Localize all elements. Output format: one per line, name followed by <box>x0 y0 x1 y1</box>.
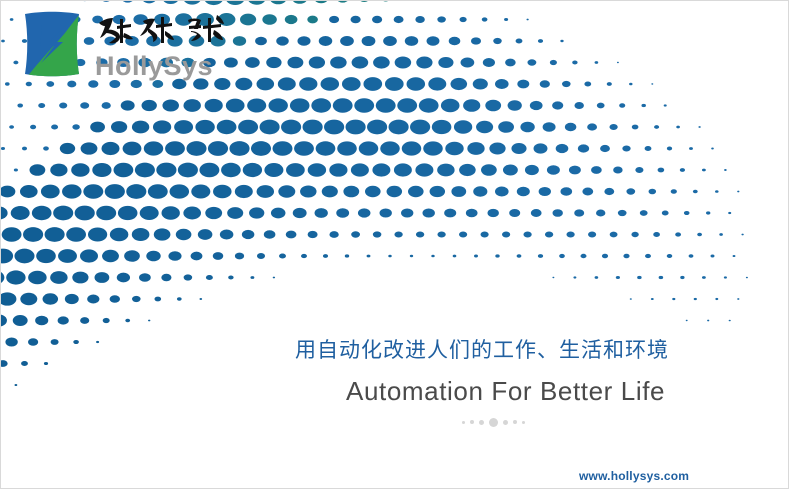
halftone-dot <box>5 337 17 346</box>
halftone-dot <box>50 164 67 177</box>
halftone-dot <box>329 231 338 238</box>
halftone-dot <box>321 77 340 91</box>
halftone-dot <box>30 125 36 129</box>
halftone-dot <box>32 206 52 220</box>
halftone-dot <box>154 297 161 302</box>
halftone-dot <box>286 163 305 177</box>
dot-separator <box>456 415 531 429</box>
halftone-dot <box>495 254 499 257</box>
halftone-dot <box>733 255 736 257</box>
halftone-dot <box>110 228 129 242</box>
halftone-dot <box>724 276 727 278</box>
halftone-dot <box>728 212 731 214</box>
halftone-dot <box>315 208 328 218</box>
halftone-dot <box>354 98 374 113</box>
halftone-dot <box>376 98 396 113</box>
halftone-dot <box>205 207 222 219</box>
halftone-dot <box>602 254 608 259</box>
halftone-dot <box>746 277 748 279</box>
halftone-dot <box>488 209 499 217</box>
halftone-dot <box>505 59 516 67</box>
separator-dot <box>479 420 484 425</box>
halftone-dot <box>90 122 105 133</box>
halftone-dot <box>380 141 400 155</box>
halftone-dot <box>273 141 293 156</box>
halftone-dot <box>266 57 281 68</box>
halftone-dot <box>651 298 654 300</box>
halftone-dot <box>73 340 79 344</box>
halftone-dot <box>481 232 489 238</box>
halftone-dot <box>329 16 339 23</box>
halftone-dot <box>221 163 241 177</box>
separator-dot <box>470 420 474 424</box>
halftone-dot <box>626 188 635 194</box>
halftone-dot <box>124 250 140 262</box>
halftone-dot <box>329 163 347 176</box>
halftone-dot <box>449 37 461 45</box>
halftone-dot <box>286 231 297 239</box>
halftone-dot <box>481 164 497 176</box>
halftone-dot <box>83 184 103 199</box>
halftone-dot <box>385 77 404 91</box>
halftone-dot <box>132 296 141 302</box>
halftone-dot <box>654 125 659 129</box>
halftone-dot <box>330 56 347 68</box>
halftone-dot <box>290 98 310 112</box>
halftone-dot <box>538 39 543 43</box>
halftone-dot <box>422 208 434 217</box>
halftone-dot <box>102 250 119 262</box>
tagline-chinese: 用自动化改进人们的工作、生活和环境 <box>295 334 669 364</box>
halftone-dot <box>653 232 660 237</box>
halftone-dot <box>337 141 357 155</box>
halftone-dot <box>581 254 587 258</box>
halftone-dot <box>373 231 381 237</box>
halftone-dot <box>72 272 88 284</box>
halftone-dot <box>351 16 361 23</box>
halftone-dot <box>565 123 576 131</box>
halftone-dot <box>162 1 178 4</box>
halftone-dot <box>278 185 295 197</box>
halftone-dot <box>154 228 171 240</box>
halftone-dot <box>311 98 331 112</box>
halftone-dot <box>651 83 653 84</box>
halftone-dot <box>243 163 262 177</box>
halftone-dot <box>13 315 28 326</box>
halftone-dot <box>552 101 563 109</box>
halftone-dot <box>22 147 27 151</box>
halftone-dot <box>719 233 723 236</box>
halftone-dot <box>238 120 258 135</box>
halftone-dot <box>72 124 79 129</box>
halftone-dot <box>623 254 629 259</box>
halftone-dot <box>257 185 274 198</box>
halftone-dot <box>285 15 298 24</box>
brand-logo[interactable]: HollySys <box>21 9 251 87</box>
halftone-dot <box>387 186 403 197</box>
halftone-dot <box>96 341 99 343</box>
halftone-dot <box>227 207 243 219</box>
halftone-dot <box>659 276 664 279</box>
halftone-dot <box>213 185 232 199</box>
halftone-dot <box>629 83 632 86</box>
halftone-dot <box>292 1 308 4</box>
halftone-dot <box>1 249 13 264</box>
halftone-dot <box>617 62 619 63</box>
halftone-dot <box>178 163 198 178</box>
halftone-dot <box>495 79 509 89</box>
halftone-dot <box>517 80 529 89</box>
halftone-dot <box>473 78 488 89</box>
halftone-dot <box>346 120 366 135</box>
halftone-dot <box>293 208 307 218</box>
halftone-dot <box>438 57 453 68</box>
halftone-dot <box>140 206 159 220</box>
halftone-dot <box>493 38 501 44</box>
halftone-dot <box>161 274 171 281</box>
halftone-dot <box>148 184 168 199</box>
halftone-dot <box>574 209 584 216</box>
halftone-dot <box>176 229 192 240</box>
halftone-dot <box>324 120 344 135</box>
halftone-dot <box>308 163 326 177</box>
halftone-dot <box>165 141 185 156</box>
hollysys-logo-mark-icon <box>21 11 83 77</box>
halftone-dot <box>65 294 79 304</box>
halftone-dot <box>28 271 47 285</box>
halftone-dot <box>618 210 627 216</box>
halftone-dot <box>582 188 593 196</box>
halftone-dot <box>684 211 690 215</box>
halftone-dot <box>664 104 667 106</box>
halftone-dot <box>630 298 632 300</box>
halftone-dot <box>461 57 475 67</box>
halftone-dot <box>367 120 387 135</box>
halftone-dot <box>257 253 265 259</box>
halftone-dot <box>667 147 672 151</box>
halftone-dot <box>322 186 338 198</box>
halftone-dot <box>658 168 665 173</box>
halftone-dot <box>431 255 434 258</box>
halftone-dot <box>574 102 583 109</box>
halftone-dot <box>641 104 645 107</box>
halftone-dot <box>125 319 130 323</box>
halftone-dot <box>697 233 702 237</box>
halftone-dot <box>637 276 641 279</box>
halftone-dot <box>333 98 353 113</box>
halftone-dot <box>269 98 288 112</box>
halftone-dot <box>96 206 116 221</box>
halftone-dot <box>397 98 417 113</box>
halftone-dot <box>616 276 620 279</box>
halftone-dot <box>525 165 539 175</box>
presentation-slide: HollySys 用自动化改进人们的工作、生活和环境 Automation Fo… <box>0 0 789 489</box>
halftone-dot <box>560 40 563 42</box>
halftone-dot <box>314 1 328 3</box>
halftone-dot <box>373 56 390 68</box>
halftone-dot <box>432 120 452 134</box>
halftone-dot <box>66 227 86 242</box>
halftone-dot <box>303 120 323 135</box>
halftone-dot <box>1 206 8 219</box>
halftone-dot <box>206 275 213 280</box>
halftone-dot <box>476 121 493 134</box>
halftone-dot <box>345 254 349 257</box>
halftone-dot <box>600 145 610 152</box>
halftone-dot <box>6 270 25 284</box>
halftone-dot <box>359 1 370 2</box>
halftone-dot <box>80 249 98 262</box>
halftone-dot <box>595 276 599 279</box>
halftone-dot <box>281 120 301 135</box>
halftone-dot <box>50 271 67 284</box>
halftone-dot <box>610 232 618 238</box>
halftone-dot <box>560 187 572 196</box>
halftone-dot <box>316 141 336 155</box>
halftone-dot <box>20 293 37 305</box>
separator-dot <box>489 418 498 427</box>
halftone-dot <box>540 80 550 88</box>
website-url[interactable]: www.hollysys.com <box>579 469 689 483</box>
halftone-dot <box>559 254 565 258</box>
halftone-dot <box>632 125 639 130</box>
halftone-dot <box>675 232 681 236</box>
halftone-dot <box>489 143 505 155</box>
halftone-dot <box>363 77 382 91</box>
halftone-dot <box>604 188 614 195</box>
separator-dot <box>503 420 508 425</box>
halftone-dot <box>451 186 466 197</box>
halftone-dot <box>23 227 43 242</box>
halftone-dot <box>235 253 244 260</box>
halftone-dot <box>430 186 445 197</box>
halftone-dot <box>416 57 432 69</box>
halftone-dot <box>191 185 210 199</box>
halftone-dot <box>380 208 392 217</box>
halftone-dot <box>689 254 694 258</box>
halftone-dot <box>401 208 413 217</box>
halftone-dot <box>437 164 454 177</box>
halftone-dot <box>631 232 638 237</box>
halftone-dot <box>538 254 543 258</box>
halftone-dot <box>517 254 522 258</box>
halftone-dot <box>676 126 680 129</box>
halftone-dot <box>405 36 418 46</box>
halftone-dot <box>264 163 283 177</box>
halftone-dot <box>459 232 467 238</box>
halftone-dot <box>142 100 157 111</box>
halftone-dot <box>342 77 361 91</box>
halftone-dot <box>270 1 287 4</box>
halftone-dot <box>248 1 266 5</box>
halftone-dot <box>250 276 254 279</box>
halftone-dot <box>671 189 677 194</box>
halftone-dot <box>45 227 65 242</box>
halftone-dot <box>102 142 120 155</box>
halftone-dot <box>301 254 307 258</box>
halftone-dot <box>1 186 15 198</box>
halftone-dot <box>737 191 739 193</box>
halftone-dot <box>635 167 643 173</box>
halftone-dot <box>235 185 253 198</box>
halftone-dot <box>427 36 440 45</box>
halftone-dot <box>80 317 89 324</box>
halftone-dot <box>693 190 698 194</box>
halftone-dot <box>1 360 8 367</box>
halftone-dot <box>249 207 264 218</box>
halftone-dot <box>309 57 325 69</box>
halftone-dot <box>419 98 439 112</box>
halftone-dot <box>459 164 476 176</box>
halftone-dot <box>372 163 390 176</box>
halftone-dot <box>394 16 404 23</box>
halftone-dot <box>445 142 463 155</box>
halftone-dot <box>597 103 605 109</box>
halftone-dot <box>278 77 296 90</box>
halftone-dot <box>226 99 245 113</box>
halftone-dot <box>300 185 316 197</box>
halftone-dot <box>588 232 596 238</box>
halftone-dot <box>453 255 457 258</box>
halftone-dot <box>51 339 59 345</box>
halftone-dot <box>186 141 206 156</box>
halftone-dot <box>562 81 571 87</box>
halftone-dot <box>114 163 134 177</box>
halftone-dot <box>607 82 612 86</box>
halftone-dot <box>11 206 30 220</box>
halftone-dot <box>336 1 349 3</box>
halftone-dot <box>395 56 412 68</box>
halftone-dot <box>408 186 424 197</box>
halftone-dot <box>1 314 7 326</box>
halftone-dot <box>591 166 602 174</box>
halftone-dot <box>517 187 530 197</box>
halftone-dot <box>622 145 630 151</box>
halftone-dot <box>62 184 82 198</box>
halftone-dot <box>118 206 138 220</box>
halftone-dot <box>287 57 303 69</box>
halftone-dot <box>698 126 700 128</box>
halftone-dot <box>444 209 456 218</box>
halftone-dot <box>441 99 460 113</box>
halftone-dot <box>416 231 424 237</box>
brand-name-latin: HollySys <box>95 53 213 80</box>
halftone-dot <box>365 186 381 197</box>
halftone-dot <box>415 163 433 176</box>
halftone-dot <box>20 185 38 198</box>
halftone-dot <box>123 142 142 156</box>
halftone-dot <box>729 320 731 322</box>
halftone-dot <box>550 60 557 65</box>
halftone-dot <box>474 255 478 258</box>
halftone-dot <box>307 16 318 24</box>
halftone-dot <box>336 208 349 217</box>
halftone-dot <box>402 141 422 155</box>
halftone-dot <box>467 142 484 155</box>
halftone-dot <box>228 276 233 280</box>
halftone-dot <box>503 165 518 176</box>
halftone-dot <box>649 189 657 195</box>
halftone-dot <box>466 209 478 218</box>
halftone-dot <box>689 147 693 150</box>
halftone-dot <box>340 36 354 46</box>
brand-wordmarks: HollySys <box>93 9 243 85</box>
halftone-dot <box>247 99 266 113</box>
halftone-dot <box>255 37 267 46</box>
halftone-dot <box>17 103 23 107</box>
halftone-dot <box>572 61 577 65</box>
halftone-dot <box>587 123 597 130</box>
halftone-dot <box>502 232 510 238</box>
halftone-dot <box>545 231 553 237</box>
halftone-dot <box>584 82 591 87</box>
halftone-dot <box>191 252 203 261</box>
halftone-dot <box>184 274 193 280</box>
halftone-dot <box>229 141 249 156</box>
separator-dot <box>462 421 465 424</box>
halftone-dot <box>543 122 556 131</box>
halftone-dot <box>208 141 228 156</box>
halftone-dot <box>43 293 59 304</box>
tagline-english: Automation For Better Life <box>346 376 665 407</box>
halftone-dot <box>410 120 430 135</box>
halftone-dot <box>139 273 151 282</box>
halftone-dot <box>359 141 379 155</box>
halftone-dot <box>30 164 46 176</box>
halftone-dot <box>343 186 359 198</box>
halftone-dot <box>640 210 648 216</box>
halftone-dot <box>573 276 576 278</box>
halftone-dot <box>1 40 5 43</box>
halftone-dot <box>279 253 286 258</box>
halftone-dot <box>5 82 10 85</box>
halftone-dot <box>530 101 543 110</box>
halftone-dot <box>389 120 409 135</box>
halftone-dot <box>437 231 445 237</box>
halftone-dot <box>662 211 669 216</box>
halftone-dot <box>28 338 38 345</box>
halftone-dot <box>101 1 112 2</box>
halftone-dot <box>534 143 548 153</box>
halftone-dot <box>217 120 237 134</box>
halftone-dot <box>415 16 424 23</box>
halftone-dot <box>609 124 617 130</box>
halftone-dot <box>383 36 397 46</box>
halftone-dot <box>460 17 467 22</box>
separator-dot <box>522 421 525 424</box>
halftone-dot <box>566 231 574 237</box>
halftone-dot <box>299 77 317 90</box>
halftone-dot <box>35 316 48 326</box>
halftone-dot <box>271 208 286 219</box>
halftone-dot <box>257 78 275 91</box>
halftone-dot <box>511 143 526 154</box>
halftone-dot <box>702 169 706 172</box>
halftone-dot <box>71 163 89 176</box>
halftone-dot <box>504 18 508 21</box>
halftone-dot <box>14 168 18 171</box>
halftone-dot <box>323 254 328 258</box>
brand-name-chinese-calligraphy <box>93 9 233 55</box>
halftone-dot <box>351 163 369 176</box>
halftone-dot <box>183 207 201 220</box>
halftone-dot <box>13 61 18 65</box>
halftone-dot <box>75 206 95 221</box>
halftone-dot <box>358 208 371 217</box>
halftone-dot <box>38 103 45 108</box>
halftone-dot <box>509 209 520 217</box>
halftone-dot <box>262 14 276 25</box>
